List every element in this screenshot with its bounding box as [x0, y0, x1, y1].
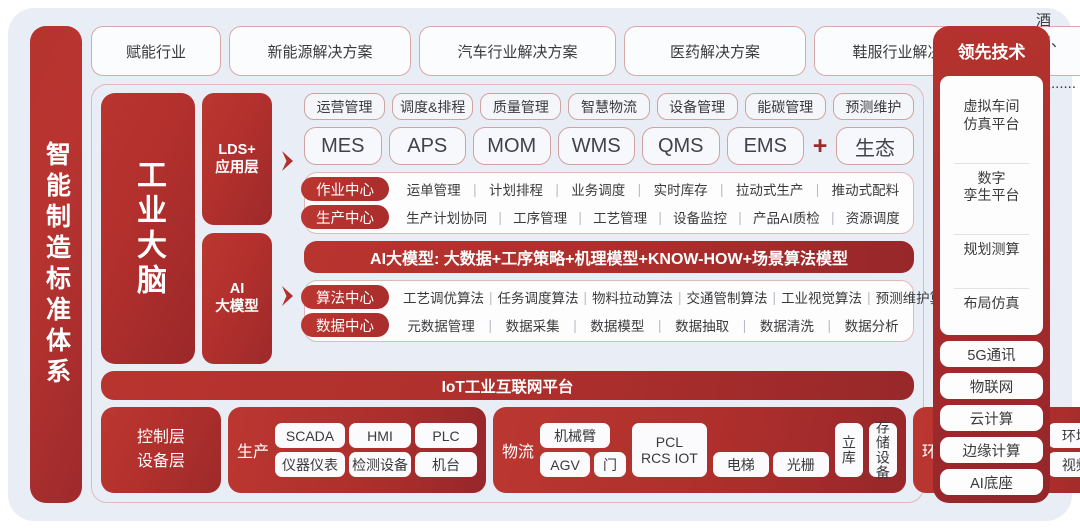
box-door[interactable]: 门 [594, 452, 626, 477]
planning-calculation-line1: 规划测算 [940, 241, 1043, 259]
box-plc[interactable]: PLC [415, 423, 477, 448]
panel-row-production-center: 生产中心 生产计划协同| 工序管理| 工艺管理| 设备监控| 产品AI质检| 资… [305, 205, 907, 229]
chip-energy-carbon-mgmt[interactable]: 能碳管理 [745, 93, 826, 120]
box-elevator[interactable]: 电梯 [713, 452, 769, 477]
chip-smart-logistics[interactable]: 智慧物流 [568, 93, 649, 120]
diagram-stage: 智能制造标准体系 赋能行业 新能源解决方案 汽车行业解决方案 医药解决方案 鞋服… [30, 26, 1050, 503]
device-group-production-label: 生产 [237, 438, 269, 462]
production-center-items: 生产计划协同| 工序管理| 工艺管理| 设备监控| 产品AI质检| 资源调度 [399, 207, 907, 227]
box-light-curtain[interactable]: 光栅 [773, 452, 829, 477]
chip-equipment-mgmt[interactable]: 设备管理 [657, 93, 738, 120]
chip-predictive-maintenance[interactable]: 预测维护 [833, 93, 914, 120]
sidebar-button-edge-computing[interactable]: 边缘计算 [940, 437, 1043, 463]
logistics-row-1b [713, 423, 829, 448]
page-canvas: 智能制造标准体系 赋能行业 新能源解决方案 汽车行业解决方案 医药解决方案 鞋服… [8, 8, 1072, 521]
chip-aps[interactable]: APS [389, 127, 467, 165]
item-resource-dispatch[interactable]: 资源调度 [842, 207, 904, 227]
separator: | [472, 182, 478, 197]
digital-twin-line2: 孪生平台 [940, 187, 1043, 205]
tag-algorithm-center[interactable]: 算法中心 [301, 285, 389, 309]
app-domain-chips: 运营管理 调度&排程 质量管理 智慧物流 设备管理 能碳管理 预测维护 [304, 93, 914, 120]
box-stereoscopic-warehouse[interactable]: 立库 [835, 423, 863, 477]
box-instruments[interactable]: 仪器仪表 [275, 452, 345, 477]
layer-ai-line1: AI [215, 280, 259, 298]
layer-button-ai-model[interactable]: AI 大模型 [202, 233, 272, 365]
production-row-2: 仪器仪表 检测设备 机台 [275, 452, 477, 477]
item-material-pull-algo[interactable]: 物料拉动算法 [588, 287, 677, 307]
control-layer-line1: 控制层 [137, 426, 185, 450]
pcl-line1: PCL [656, 434, 683, 450]
sidebar-button-iot[interactable]: 物联网 [940, 373, 1043, 399]
item-data-model[interactable]: 数据模型 [586, 315, 648, 335]
layer-lds-line2: 应用层 [215, 159, 259, 177]
item-craft-optimization-algo[interactable]: 工艺调优算法 [399, 287, 488, 307]
ai-center-panel: 算法中心 工艺调优算法| 任务调度算法| 物料拉动算法| 交通管制算法| 工业视… [304, 280, 914, 342]
chip-qms[interactable]: QMS [642, 127, 720, 165]
item-production-plan-collab[interactable]: 生产计划协同 [402, 207, 491, 227]
left-vertical-title-label: 智能制造标准体系 [44, 141, 69, 389]
architecture-content: 运营管理 调度&排程 质量管理 智慧物流 设备管理 能碳管理 预测维护 MES … [304, 93, 914, 364]
production-row-1: SCADA HMI PLC [275, 423, 477, 448]
ai-model-banner: AI大模型: 大数据+工序策略+机理模型+KNOW-HOW+场景算法模型 [304, 241, 914, 273]
data-center-items: 元数据管理| 数据采集| 数据模型| 数据抽取| 数据清洗| 数据分析 [399, 315, 907, 335]
chevron-right-icon [281, 150, 295, 172]
stereoscopic-warehouse-label: 立库 [839, 435, 859, 465]
virtual-workshop-line1: 虚拟车间 [940, 98, 1043, 116]
device-layer-row: 控制层 设备层 生产 SCADA HMI PLC [101, 407, 914, 493]
separator: | [577, 210, 583, 225]
separator: | [830, 210, 836, 225]
tab-pharma[interactable]: 医药解决方案 [624, 26, 806, 76]
iot-platform-bar: IoT工业互联网平台 [101, 371, 914, 400]
operation-center-items: 运单管理| 计划排程| 业务调度| 实时库存| 拉动式生产| 推动式配料 [399, 179, 907, 199]
logistics-right-boxes: 电梯 光栅 [713, 423, 829, 477]
box-pcl-rcs-iot[interactable]: PCL RCS IOT [632, 423, 707, 477]
box-agv[interactable]: AGV [540, 452, 590, 477]
chip-mes[interactable]: MES [304, 127, 382, 165]
virtual-workshop-line2: 仿真平台 [940, 116, 1043, 134]
layer-buttons: LDS+ 应用层 AI 大模型 [202, 93, 272, 364]
device-group-logistics: 物流 机械臂 AGV 门 PCL RCS IOT [493, 407, 906, 493]
separator: | [737, 210, 743, 225]
box-robot-arm[interactable]: 机械臂 [540, 423, 610, 448]
item-craft-mgmt[interactable]: 工艺管理 [589, 207, 651, 227]
sidebar-item-planning-calculation[interactable]: 规划测算 [940, 234, 1043, 266]
item-data-analysis[interactable]: 数据分析 [841, 315, 903, 335]
tag-data-center[interactable]: 数据中心 [301, 313, 389, 337]
item-process-mgmt[interactable]: 工序管理 [509, 207, 571, 227]
leading-technology-title: 领先技术 [940, 33, 1043, 70]
layout-simulation-line1: 布局仿真 [940, 295, 1043, 313]
leading-technology-sidebar: 领先技术 虚拟车间 仿真平台 数字 孪生平台 规划测算 布局仿真 5G通讯 物联… [933, 26, 1050, 503]
item-push-material[interactable]: 推动式配料 [828, 179, 904, 199]
sidebar-button-ai-base[interactable]: AI底座 [940, 469, 1043, 495]
layer-lds-line1: LDS+ [215, 141, 259, 159]
separator: | [497, 210, 503, 225]
box-test-equipment[interactable]: 检测设备 [349, 452, 411, 477]
sidebar-item-virtual-workshop[interactable]: 虚拟车间 仿真平台 [940, 91, 1043, 140]
plus-icon: + [811, 127, 829, 165]
chip-ems[interactable]: EMS [727, 127, 805, 165]
layer-ai-line2: 大模型 [215, 298, 259, 316]
item-data-collection[interactable]: 数据采集 [502, 315, 564, 335]
logistics-row-1: 机械臂 [540, 423, 626, 448]
chevron-right-icon [281, 285, 295, 307]
separator: | [719, 182, 725, 197]
tab-automotive[interactable]: 汽车行业解决方案 [419, 26, 616, 76]
sidebar-item-digital-twin[interactable]: 数字 孪生平台 [940, 163, 1043, 212]
item-realtime-inventory[interactable]: 实时库存 [650, 179, 712, 199]
chip-mom[interactable]: MOM [473, 127, 551, 165]
industry-tabs: 赋能行业 新能源解决方案 汽车行业解决方案 医药解决方案 鞋服行业解决方案 酒类… [91, 26, 924, 76]
tab-new-energy[interactable]: 新能源解决方案 [229, 26, 411, 76]
item-data-cleaning[interactable]: 数据清洗 [756, 315, 818, 335]
item-task-scheduling-algo[interactable]: 任务调度算法 [494, 287, 583, 307]
sidebar-button-5g[interactable]: 5G通讯 [940, 341, 1043, 367]
main-column: 赋能行业 新能源解决方案 汽车行业解决方案 医药解决方案 鞋服行业解决方案 酒类… [91, 26, 924, 503]
separator: | [637, 182, 643, 197]
sidebar-button-cloud-computing[interactable]: 云计算 [940, 405, 1043, 431]
item-industrial-vision-algo[interactable]: 工业视觉算法 [777, 287, 866, 307]
pcl-line2: RCS IOT [641, 450, 698, 466]
application-center-panel: 作业中心 运单管理| 计划排程| 业务调度| 实时库存| 拉动式生产| 推动式配… [304, 172, 914, 234]
industrial-brain-block: 工业大脑 [101, 93, 195, 364]
separator: | [657, 318, 663, 333]
logistics-row-2b: 电梯 光栅 [713, 452, 829, 477]
item-traffic-control-algo[interactable]: 交通管制算法 [683, 287, 772, 307]
box-machine-station[interactable]: 机台 [415, 452, 477, 477]
tab-enabling-industry[interactable]: 赋能行业 [91, 26, 221, 76]
separator: | [572, 318, 578, 333]
storage-equipment-label: 存储设备 [873, 420, 893, 480]
separator: | [487, 318, 493, 333]
chevron-arrows [279, 93, 297, 364]
device-group-logistics-label: 物流 [502, 438, 534, 462]
device-group-production: 生产 SCADA HMI PLC 仪器仪表 检测设备 机台 [228, 407, 486, 493]
chip-quality-mgmt[interactable]: 质量管理 [480, 93, 561, 120]
box-environment-monitor[interactable]: 环境监控 [1048, 423, 1080, 448]
left-vertical-title: 智能制造标准体系 [30, 26, 82, 503]
panel-row-data-center: 数据中心 元数据管理| 数据采集| 数据模型| 数据抽取| 数据清洗| 数据分析 [305, 313, 907, 337]
leading-technology-platform-group: 虚拟车间 仿真平台 数字 孪生平台 规划测算 布局仿真 [940, 76, 1043, 335]
control-device-layer-block: 控制层 设备层 [101, 407, 221, 493]
box-storage-equipment[interactable]: 存储设备 [869, 423, 897, 477]
control-layer-line2: 设备层 [137, 450, 185, 474]
panel-row-algorithm-center: 算法中心 工艺调优算法| 任务调度算法| 物料拉动算法| 交通管制算法| 工业视… [305, 285, 907, 309]
chip-wms[interactable]: WMS [558, 127, 636, 165]
separator: | [657, 210, 663, 225]
chevron-slot-app [279, 93, 297, 229]
separator: | [742, 318, 748, 333]
chevron-slot-ai [279, 229, 297, 365]
chip-operations-mgmt[interactable]: 运营管理 [304, 93, 385, 120]
chip-ecosystem[interactable]: 生态 [836, 127, 914, 165]
item-pull-production[interactable]: 拉动式生产 [732, 179, 808, 199]
layer-button-lds-app[interactable]: LDS+ 应用层 [202, 93, 272, 225]
algorithm-center-items: 工艺调优算法| 任务调度算法| 物料拉动算法| 交通管制算法| 工业视觉算法| … [399, 287, 961, 307]
box-video-monitor[interactable]: 视频监控 [1048, 452, 1080, 477]
box-scada[interactable]: SCADA [275, 423, 345, 448]
separator: | [827, 318, 833, 333]
production-boxes: SCADA HMI PLC 仪器仪表 检测设备 机台 [275, 423, 477, 477]
item-metadata-mgmt[interactable]: 元数据管理 [403, 315, 479, 335]
item-plan-scheduling[interactable]: 计划排程 [485, 179, 547, 199]
digital-twin-line1: 数字 [940, 170, 1043, 188]
panel-row-operation-center: 作业中心 运单管理| 计划排程| 业务调度| 实时库存| 拉动式生产| 推动式配… [305, 177, 907, 201]
industrial-brain-label: 工业大脑 [133, 159, 163, 299]
item-waybill-mgmt[interactable]: 运单管理 [403, 179, 465, 199]
tag-production-center[interactable]: 生产中心 [301, 205, 389, 229]
app-product-chips: MES APS MOM WMS QMS EMS + 生态 [304, 127, 914, 165]
item-product-ai-inspection[interactable]: 产品AI质检 [749, 207, 824, 227]
chip-scheduling[interactable]: 调度&排程 [392, 93, 473, 120]
separator: | [554, 182, 560, 197]
item-equipment-monitor[interactable]: 设备监控 [669, 207, 731, 227]
architecture-upper: 工业大脑 LDS+ 应用层 AI 大 [101, 93, 914, 364]
separator: | [815, 182, 821, 197]
box-hmi[interactable]: HMI [349, 423, 411, 448]
tag-operation-center[interactable]: 作业中心 [301, 177, 389, 201]
architecture-container: 工业大脑 LDS+ 应用层 AI 大 [91, 84, 924, 503]
sidebar-item-layout-simulation[interactable]: 布局仿真 [940, 288, 1043, 320]
item-data-extraction[interactable]: 数据抽取 [671, 315, 733, 335]
logistics-left-boxes: 机械臂 AGV 门 [540, 423, 626, 477]
logistics-row-2: AGV 门 [540, 452, 626, 477]
item-business-dispatch[interactable]: 业务调度 [567, 179, 629, 199]
